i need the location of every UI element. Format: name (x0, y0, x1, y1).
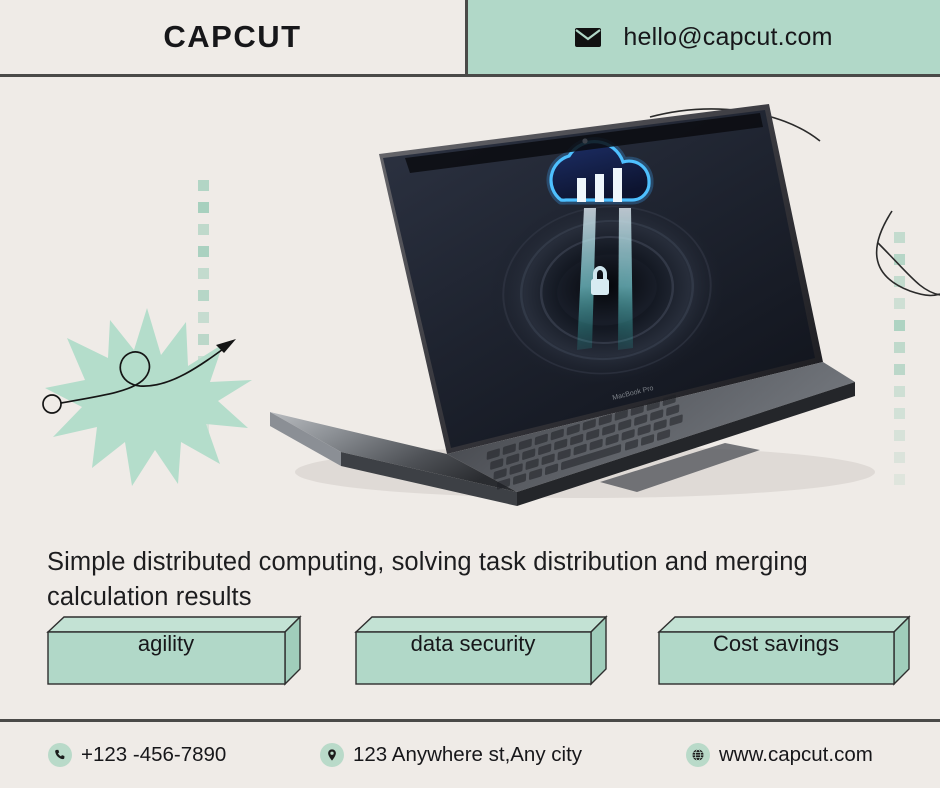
feature-box-group: agility data security Cost savings (0, 605, 940, 695)
footer-item-phone[interactable]: +123 -456-7890 (48, 743, 226, 767)
arrow-head (216, 339, 236, 353)
curved-accent-lines (620, 95, 940, 325)
starburst-arrow-graphic (40, 300, 255, 490)
footer-address-text: 123 Anywhere st,Any city (353, 743, 582, 767)
starburst-shape (45, 308, 252, 486)
footer-bar: +123 -456-7890 123 Anywhere st,Any city (0, 719, 940, 788)
poster-canvas: CAPCUT hello@capcut.com (0, 0, 940, 788)
footer-website-text: www.capcut.com (719, 743, 873, 767)
feature-box-data-security[interactable]: data security (355, 605, 613, 693)
header-brand-panel: CAPCUT (0, 0, 468, 74)
footer-item-address[interactable]: 123 Anywhere st,Any city (320, 743, 582, 767)
header-bar: CAPCUT hello@capcut.com (0, 0, 940, 77)
footer-item-website[interactable]: www.capcut.com (686, 743, 873, 767)
phone-icon (48, 743, 72, 767)
dotted-line-left (198, 180, 212, 430)
loop-arrow (43, 344, 230, 413)
header-contact-panel: hello@capcut.com (468, 0, 940, 74)
laptop-screen-content (478, 142, 735, 398)
globe-icon (686, 743, 710, 767)
dotted-line-right (894, 232, 908, 482)
footer-phone-text: +123 -456-7890 (81, 743, 226, 767)
contact-email[interactable]: hello@capcut.com (623, 23, 832, 52)
laptop-illustration: MacBook Pro (255, 100, 925, 510)
location-icon (320, 743, 344, 767)
page-title: CAPCUT (163, 19, 301, 55)
feature-box-cost-savings[interactable]: Cost savings (658, 605, 916, 693)
device-wordmark: MacBook Pro (612, 385, 655, 402)
feature-box-agility[interactable]: agility (47, 605, 307, 693)
mail-icon (575, 28, 601, 47)
